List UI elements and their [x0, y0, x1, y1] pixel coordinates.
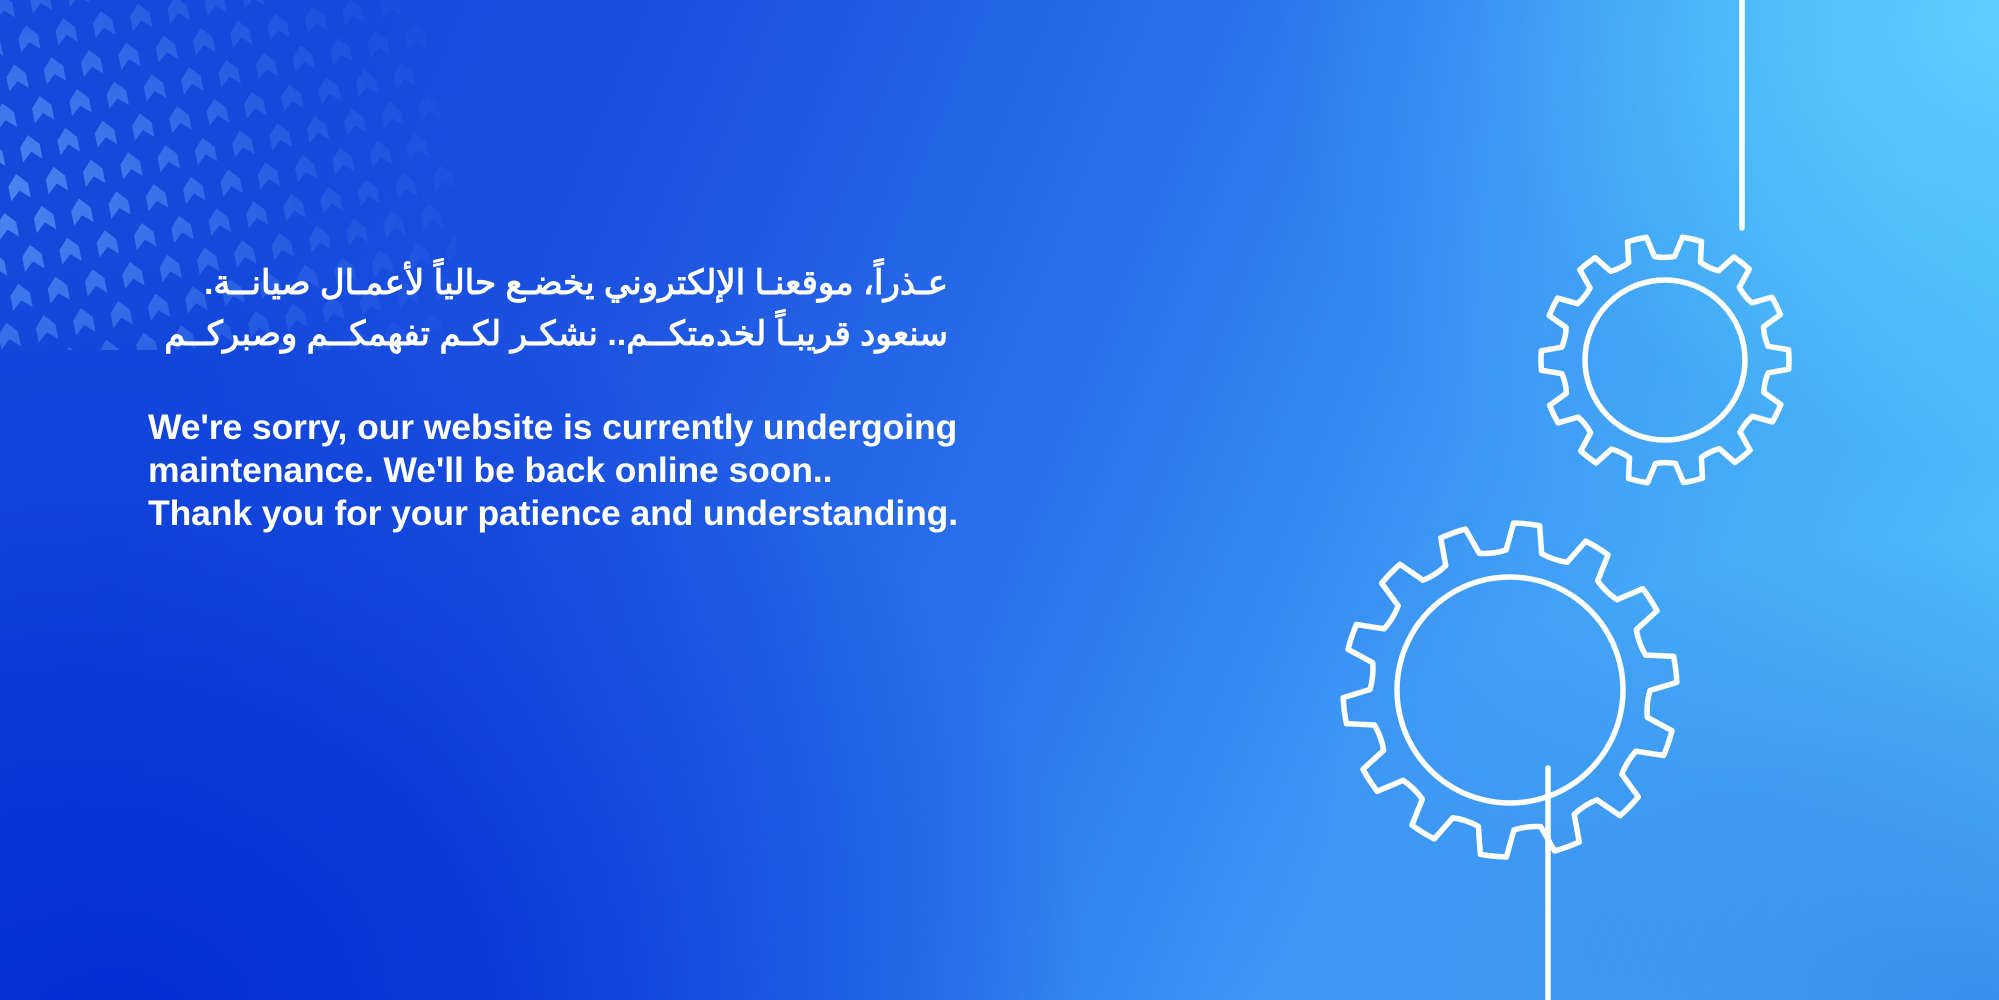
- english-message: We're sorry, our website is currently un…: [148, 406, 948, 535]
- arabic-message: عـذراً، موقعنـا الإلكتروني يخضـع حالياً …: [148, 258, 948, 360]
- message-spacer: [148, 360, 948, 406]
- maintenance-page: عـذراً، موقعنـا الإلكتروني يخضـع حالياً …: [0, 0, 1999, 1000]
- english-line-3: Thank you for your patience and understa…: [148, 492, 948, 535]
- maintenance-message: عـذراً، موقعنـا الإلكتروني يخضـع حالياً …: [148, 258, 948, 535]
- arabic-line-2: سنعود قريبـاً لخدمتكــم.. نشكـر لكـم تفه…: [148, 309, 948, 360]
- arabic-line-1: عـذراً، موقعنـا الإلكتروني يخضـع حالياً …: [148, 258, 948, 309]
- english-line-1: We're sorry, our website is currently un…: [148, 406, 948, 449]
- english-line-2: maintenance. We'll be back online soon..: [148, 449, 948, 492]
